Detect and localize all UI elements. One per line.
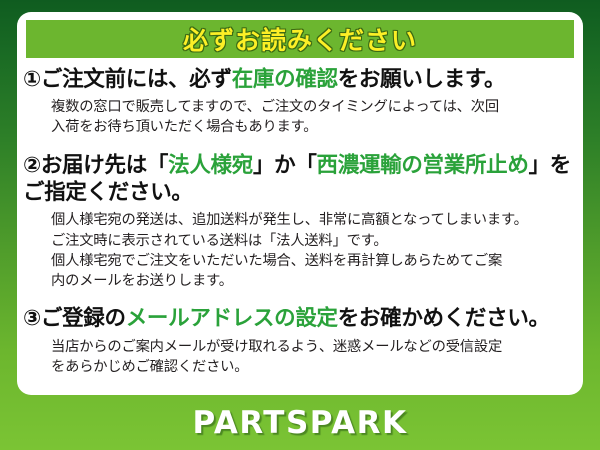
notice-item-3: ③ご登録のメールアドレスの設定をお確かめください。 当店からのご案内メールが受け… [17,305,583,378]
notice-item-2-body: 個人様宅宛の発送は、追加送料が発生し、非常に高額となってしまいます。 ご注文時に… [17,207,583,291]
item-marker: ② [23,153,41,178]
heading-bracket-open: 「 [295,153,316,178]
heading-segment: か [274,153,295,178]
heading-highlight: 法人様宛 [168,153,253,178]
notice-item-1-heading: ①ご注文前には、必ず在庫の確認をお願いします。 [17,66,583,94]
notice-item-3-heading: ③ご登録のメールアドレスの設定をお確かめください。 [17,305,583,333]
item-marker: ③ [23,306,41,331]
notice-banner: 必ずお読みください ①ご注文前には、必ず在庫の確認をお願いします。 複数の窓口で… [0,0,600,450]
notice-items-list: ①ご注文前には、必ず在庫の確認をお願いします。 複数の窓口で販売してますので、ご… [17,66,583,379]
notice-item-1: ①ご注文前には、必ず在庫の確認をお願いします。 複数の窓口で販売してますので、ご… [17,66,583,138]
notice-card: 必ずお読みください ①ご注文前には、必ず在庫の確認をお願いします。 複数の窓口で… [17,12,583,395]
body-line: 入荷をお待ち頂いただく場合もあります。 [51,117,575,137]
notice-title-bar: 必ずお読みください [26,20,574,58]
heading-segment: をお願いします。 [338,67,505,92]
heading-segment: ご登録の [41,306,126,331]
page-title: 必ずお読みください [183,21,417,57]
notice-item-1-body: 複数の窓口で販売してますので、ご注文のタイミングによっては、次回 入荷をお待ち頂… [17,94,583,138]
body-line: 個人様宅宛の発送は、追加送料が発生し、非常に高額となってしまいます。 [51,210,575,230]
heading-bracket-close: 」 [529,153,550,178]
notice-item-3-body: 当店からのご案内メールが受け取れるよう、迷惑メールなどの受信設定 をあらかじめご… [17,333,583,378]
body-line: 当店からのご案内メールが受け取れるよう、迷惑メールなどの受信設定 [51,337,575,357]
item-marker: ① [23,67,41,92]
body-line: 個人様宅宛でご注文をいただいた場合、送料を再計算しあらためてご案 [51,251,575,271]
body-line: 内のメールをお送りします。 [51,271,575,291]
heading-highlight: 西濃運輸の営業所止め [317,153,529,178]
body-line: をあらかじめご確認ください。 [51,357,575,377]
body-line: 複数の窓口で販売してますので、ご注文のタイミングによっては、次回 [51,97,575,117]
brand-footer: PARTSPARK [0,396,600,450]
body-line: ご注文時に表示されている送料は「法人送料」です。 [51,231,575,251]
notice-item-2: ②お届け先は「法人様宛」か「西濃運輸の営業所止め」をご指定ください。 個人様宅宛… [17,152,583,292]
brand-logo-text: PARTSPARK [192,405,407,441]
heading-highlight: メールアドレスの設定 [126,306,338,331]
heading-bracket-close: 」 [253,153,274,178]
heading-highlight: 在庫の確認 [232,67,338,92]
heading-segment: お届け先は [41,153,147,178]
notice-item-2-heading: ②お届け先は「法人様宛」か「西濃運輸の営業所止め」をご指定ください。 [17,152,583,208]
heading-bracket-open: 「 [147,153,168,178]
heading-segment: ご注文前には、必ず [41,67,232,92]
heading-segment: をお確かめください。 [338,306,550,331]
